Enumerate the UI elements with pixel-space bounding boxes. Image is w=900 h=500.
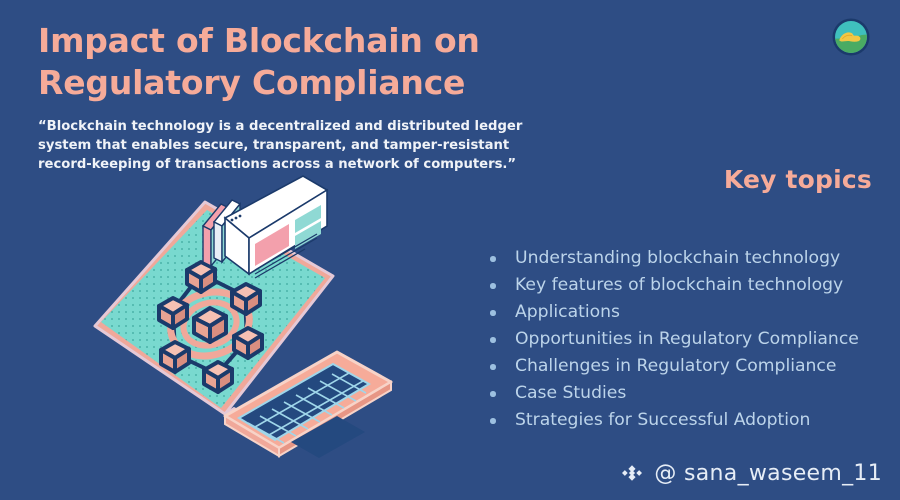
list-item: Strategies for Successful Adoption [486, 407, 859, 434]
cube-node [232, 284, 260, 314]
list-item: Understanding blockchain technology [486, 245, 859, 272]
list-item: Key features of blockchain technology [486, 272, 859, 299]
presentation-slide: Impact of Blockchain on Regulatory Compl… [0, 0, 900, 500]
cube-node [159, 298, 187, 328]
list-item-label: Opportunities in Regulatory Compliance [515, 329, 859, 349]
list-item-label: Key features of blockchain technology [515, 275, 843, 295]
isometric-laptop-blockchain-network [75, 170, 395, 460]
list-item: Applications [486, 299, 859, 326]
title-line-1: Impact of Blockchain on [38, 20, 508, 62]
list-item-label: Case Studies [515, 383, 626, 403]
bullet-dot-icon [490, 337, 496, 343]
list-item-label: Understanding blockchain technology [515, 248, 840, 268]
page-title: Impact of Blockchain on Regulatory Compl… [38, 20, 508, 104]
quote-line-2: system that enables secure, transparent,… [38, 136, 500, 155]
key-topics-heading: Key topics [724, 165, 872, 194]
quote-line-1: “Blockchain technology is a decentralize… [38, 117, 500, 136]
bullet-dot-icon [490, 418, 496, 424]
bullet-dot-icon [490, 310, 496, 316]
list-item-label: Strategies for Successful Adoption [515, 410, 810, 430]
circular-brand-logo [830, 16, 872, 58]
list-item-label: Challenges in Regulatory Compliance [515, 356, 836, 376]
cube-node [161, 342, 189, 372]
list-item: Case Studies [486, 380, 859, 407]
title-line-2: Regulatory Compliance [38, 62, 508, 104]
handle-text: @ sana_waseem_11 [654, 461, 882, 486]
key-topics-list: Understanding blockchain technology Key … [486, 245, 859, 434]
bullet-dot-icon [490, 256, 496, 262]
cube-node [204, 362, 232, 392]
quote-block: “Blockchain technology is a decentralize… [38, 117, 500, 174]
author-handle: @ sana_waseem_11 [619, 460, 882, 486]
list-item-label: Applications [515, 302, 620, 322]
bullet-dot-icon [490, 283, 496, 289]
center-cube-node [194, 308, 226, 342]
binance-diamond-icon [619, 460, 645, 486]
cube-node [234, 328, 262, 358]
bullet-dot-icon [490, 391, 496, 397]
bullet-dot-icon [490, 364, 496, 370]
list-item: Challenges in Regulatory Compliance [486, 353, 859, 380]
list-item: Opportunities in Regulatory Compliance [486, 326, 859, 353]
